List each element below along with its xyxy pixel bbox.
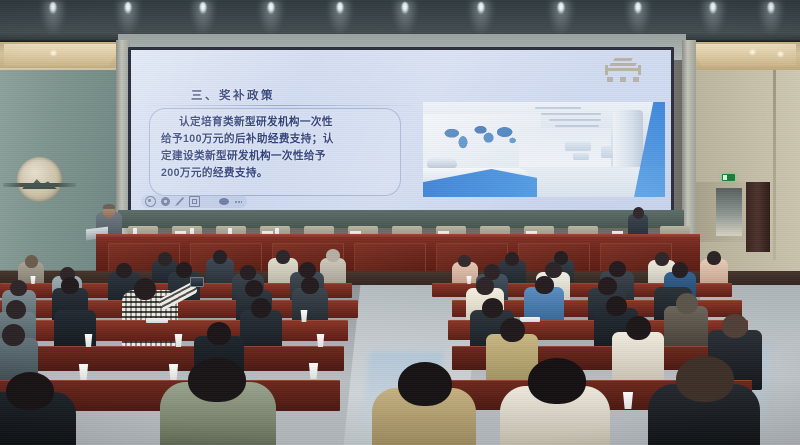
audience-head [116, 263, 132, 278]
audience-head [505, 252, 519, 266]
audience-head [482, 298, 503, 318]
slide-body-line-3: 定建设类新型研发机构一次性给予 [161, 150, 326, 162]
audience-head [707, 251, 721, 265]
ceiling-downlight [336, 2, 344, 14]
ceiling-downlight [199, 2, 207, 14]
highlighter-icon[interactable] [219, 198, 229, 205]
zoom-frame-icon[interactable] [189, 196, 200, 207]
ceiling-downlight [401, 2, 409, 14]
smartphone [190, 277, 204, 287]
audience-head [61, 277, 79, 294]
staff-member-head [633, 207, 644, 219]
audience-head [476, 277, 494, 295]
audience-head [2, 324, 25, 346]
speaker-hair [103, 204, 115, 209]
right-wall [688, 70, 800, 275]
document-on-desk [520, 317, 540, 322]
wall-medallion-relief [17, 157, 62, 202]
slide-body-text: 认定培育类新型研发机构一次性 给予100万元的后补助经费支持；认 定建设类新型研… [161, 114, 393, 182]
audience-head [213, 250, 227, 264]
attendee-front-center-head [188, 358, 246, 402]
wall-medallion-bar [3, 183, 76, 187]
slide-body-line-2: 给予100万元的后补助经费支持；认 [161, 133, 334, 145]
slide-title: 三、奖补政策 [191, 87, 275, 103]
audience-bench [0, 320, 348, 341]
company-logo [601, 56, 645, 86]
world-map-graphic [439, 122, 519, 150]
document-on-desk [146, 318, 168, 323]
ceiling-downlight [557, 2, 565, 14]
audience-head [609, 261, 626, 277]
audience-head [6, 372, 54, 410]
audience-head [207, 322, 231, 345]
audience-head [458, 255, 471, 267]
slide-body-line-4: 200万元的经费支持。 [161, 167, 268, 179]
projection-screen[interactable]: 三、奖补政策 认定培育类新型研发机构一次性 给予100万元的后补助经费支持；认 … [131, 50, 671, 212]
attendee-photographing-head [134, 278, 156, 300]
right-wall-seam [773, 70, 776, 260]
laser-pointer-icon[interactable] [161, 197, 170, 206]
right-door-dark-leaf[interactable] [746, 182, 770, 252]
soffit-cove-left [4, 44, 124, 66]
audience-head [500, 318, 525, 342]
audience-head [326, 249, 340, 262]
pointer-eye-icon[interactable] [145, 196, 156, 207]
audience-head [535, 276, 554, 294]
slide-photo-exhibition-hall [423, 102, 665, 197]
audience-head [626, 316, 651, 340]
audience-head [25, 255, 38, 268]
ceiling-downlight [477, 2, 485, 14]
audience-head [655, 252, 669, 266]
audience-head [251, 298, 271, 318]
logo-caption [607, 77, 639, 82]
audience-head [598, 277, 617, 295]
audience-head [664, 276, 683, 294]
audience-head [722, 314, 748, 338]
ceiling-downlight [709, 2, 717, 14]
audience-head [676, 293, 698, 314]
audience-head [299, 262, 316, 278]
ceiling-downlight [767, 2, 775, 14]
right-doorway-glass [716, 188, 742, 236]
more-options-icon[interactable] [234, 197, 243, 206]
ceiling-downlight [49, 2, 57, 14]
slide-title-rule [143, 105, 413, 106]
audience-head [606, 296, 627, 316]
audience-head [245, 280, 263, 297]
audience-head [676, 356, 734, 402]
pen-icon[interactable] [175, 197, 184, 206]
presenter-toolbar[interactable] [141, 195, 247, 208]
ceiling-downlight [124, 2, 132, 14]
audience-head [276, 250, 290, 264]
conference-room-photo: 三、奖补政策 认定培育类新型研发机构一次性 给予100万元的后补助经费支持；认 … [0, 0, 800, 445]
audience-head [528, 358, 586, 404]
audience-head [176, 262, 192, 278]
audience-head [240, 265, 256, 280]
audience-head [158, 252, 172, 266]
audience-head [301, 277, 319, 294]
audience-head [6, 300, 26, 319]
audience-head [398, 362, 452, 406]
emergency-exit-sign [722, 174, 735, 181]
ceiling-downlight [634, 2, 642, 14]
angular-roof-logo-icon [605, 56, 641, 75]
ceiling-downlight [267, 2, 275, 14]
audience-head [65, 298, 85, 318]
audience-head [10, 280, 27, 296]
slide-body-line-1: 认定培育类新型研发机构一次性 [179, 116, 333, 128]
